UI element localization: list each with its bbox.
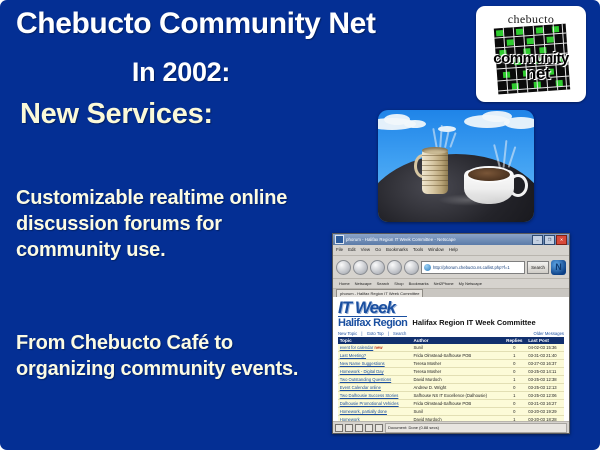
cell-author: Frida Olmstead-Safhouse POB <box>412 352 503 360</box>
personal-link-bookmarks[interactable]: Bookmarks <box>409 279 429 288</box>
composer-icon[interactable] <box>355 424 363 432</box>
menu-window[interactable]: Window <box>428 245 444 255</box>
cell-topic[interactable]: Event Calendar online <box>338 384 412 392</box>
table-row[interactable]: Last Meeting?Frida Olmstead-Safhouse POB… <box>338 352 565 360</box>
cell-author: David Murdoch <box>412 376 503 384</box>
forum-top-links: New Topic | Goto Top | Search Older Mess… <box>333 329 569 337</box>
cell-replies: 0 <box>502 360 526 368</box>
cell-last-post: 03-25-03 12:06 <box>526 392 564 400</box>
new-badge: new <box>373 345 382 350</box>
netscape-window-icon <box>335 235 344 244</box>
cell-author: Sunil <box>412 408 503 416</box>
table-row[interactable]: Two Outstanding QuestionsDavid Murdoch10… <box>338 376 565 384</box>
status-message: Document: Done (0.88 secs) <box>385 423 567 433</box>
coffee-liquid <box>468 168 510 181</box>
browser-viewport: IT Week Halifax Region Halifax Region IT… <box>333 297 569 422</box>
cell-replies: 1 <box>502 376 526 384</box>
personal-link-home[interactable]: Home <box>339 279 350 288</box>
table-row[interactable]: event for calendar newSunil004-02-03 15:… <box>338 344 565 352</box>
menu-view[interactable]: View <box>361 245 370 255</box>
search-button[interactable]: Search <box>527 261 549 274</box>
thread-link[interactable]: Two Outstanding Questions <box>340 377 391 382</box>
cell-author: Teresa Mosher <box>412 360 503 368</box>
forum-thread-table: Topic Author Replies Last Post event for… <box>338 337 565 422</box>
cell-replies: 1 <box>502 352 526 360</box>
thread-link[interactable]: Homework, partially done <box>340 409 387 414</box>
link-goto-top[interactable]: Goto Top <box>367 331 384 336</box>
separator-2: | <box>388 331 389 336</box>
cell-last-post: 04-02-03 15:36 <box>526 344 564 352</box>
menu-tools[interactable]: Tools <box>413 245 423 255</box>
cell-replies: 0 <box>502 408 526 416</box>
stop-button[interactable] <box>387 260 402 275</box>
cell-last-post: 03-21-03 16:27 <box>526 400 564 408</box>
menu-help[interactable]: Help <box>449 245 458 255</box>
thread-link[interactable]: event for calendar <box>340 345 374 350</box>
personal-link-netscape[interactable]: Netscape <box>355 279 372 288</box>
tall-ribbed-mug <box>422 150 448 194</box>
coffee-photo <box>378 110 534 222</box>
cell-last-post: 03-25-03 12:13 <box>526 384 564 392</box>
cell-author: Sunil <box>412 344 503 352</box>
cell-replies: 0 <box>502 344 526 352</box>
menu-edit[interactable]: Edit <box>348 245 356 255</box>
menu-file[interactable]: File <box>336 245 343 255</box>
cell-author: Frida Olmstead-Safhouse POB <box>412 400 503 408</box>
personal-link-shop[interactable]: Shop <box>394 279 403 288</box>
browser-navigation-toolbar[interactable]: http://phorum.chebucto.ns.ca/list.php?f=… <box>333 256 569 279</box>
cell-last-post: 03-25-03 14:11 <box>526 368 564 376</box>
address-book-icon[interactable] <box>365 424 373 432</box>
online-status-icon[interactable] <box>335 424 343 432</box>
forward-button[interactable] <box>353 260 368 275</box>
link-older-messages-top[interactable]: Older Messages <box>534 331 565 336</box>
cell-last-post: 03-20-03 19:29 <box>526 408 564 416</box>
separator-1: | <box>361 331 362 336</box>
table-header-row: Topic Author Replies Last Post <box>338 337 565 344</box>
table-row[interactable]: Homework - Digital DayTeresa Mosher003-2… <box>338 368 565 376</box>
cell-replies: 0 <box>502 368 526 376</box>
thread-link[interactable]: Homework - Digital Day <box>340 369 384 374</box>
menu-go[interactable]: Go <box>375 245 381 255</box>
table-row[interactable]: Dalhousie Promotional VehiclesFrida Olms… <box>338 400 565 408</box>
window-controls[interactable]: – ❐ ✕ <box>532 235 567 245</box>
column-replies[interactable]: Replies <box>502 337 526 344</box>
close-button[interactable]: ✕ <box>556 235 567 245</box>
maximize-button[interactable]: ❐ <box>544 235 555 245</box>
browser-window-title: phorum - Halifax Region IT Week Committe… <box>346 234 532 245</box>
minimize-button[interactable]: – <box>532 235 543 245</box>
cell-last-post: 03-27-03 16:37 <box>526 360 564 368</box>
address-bar-value: http://phorum.chebucto.ns.ca/list.php?f=… <box>433 265 510 270</box>
table-row[interactable]: New Name SuggestionsTeresa Mosher003-27-… <box>338 360 565 368</box>
address-bar[interactable]: http://phorum.chebucto.ns.ca/list.php?f=… <box>421 261 525 274</box>
personal-link-search[interactable]: Search <box>377 279 390 288</box>
reload-button[interactable] <box>370 260 385 275</box>
table-row[interactable]: Event Calendar onlineAndrew D. Wright003… <box>338 384 565 392</box>
logo-word-chebucto: chebucto <box>476 12 586 27</box>
cell-topic[interactable]: event for calendar new <box>338 344 412 352</box>
thread-link[interactable]: Two Dalhousie Success Stories <box>340 393 399 398</box>
page-title: Chebucto Community Net <box>16 8 446 40</box>
column-author[interactable]: Author <box>412 337 503 344</box>
cell-topic[interactable]: Homework - Digital Day <box>338 368 412 376</box>
globe-icon <box>424 264 431 271</box>
page-header: IT Week Halifax Region Halifax Region IT… <box>333 297 569 329</box>
cell-author: Andrew D. Wright <box>412 384 503 392</box>
link-search-top[interactable]: Search <box>393 331 406 336</box>
presentation-slide: Chebucto Community Net In 2002: New Serv… <box>0 0 600 450</box>
table-row[interactable]: Homework, partially doneSunil003-20-03 1… <box>338 408 565 416</box>
personal-link-net2phone[interactable]: Net2Phone <box>434 279 454 288</box>
thread-link[interactable]: New Name Suggestions <box>340 361 385 366</box>
home-button[interactable] <box>404 260 419 275</box>
cell-topic[interactable]: Dalhousie Promotional Vehicles <box>338 400 412 408</box>
cell-topic[interactable]: New Name Suggestions <box>338 360 412 368</box>
chebucto-community-net-logo: chebucto <box>476 6 586 102</box>
cell-topic[interactable]: Two Outstanding Questions <box>338 376 412 384</box>
column-topic[interactable]: Topic <box>338 337 412 344</box>
section-heading: New Services: <box>20 98 350 131</box>
browser-window-screenshot: phorum - Halifax Region IT Week Committe… <box>332 233 570 434</box>
mug-rim <box>422 147 448 154</box>
personal-toolbar[interactable]: Home Netscape Search Shop Bookmarks Net2… <box>333 279 569 289</box>
cell-author: Safhouse NS IT Excellence (Dalhousie) <box>412 392 503 400</box>
personal-link-my-netscape[interactable]: My Netscape <box>459 279 482 288</box>
column-last-post[interactable]: Last Post <box>526 337 564 344</box>
cell-topic[interactable]: Two Dalhousie Success Stories <box>338 392 412 400</box>
it-week-logo: IT Week Halifax Region <box>338 300 407 329</box>
back-button[interactable] <box>336 260 351 275</box>
cell-last-post: 03-25-03 12:38 <box>526 376 564 384</box>
it-week-logo-line1: IT Week <box>338 300 407 316</box>
netscape-logo-icon[interactable]: N <box>551 260 566 275</box>
link-new-topic-top[interactable]: New Topic <box>338 331 357 336</box>
cell-replies: 0 <box>502 400 526 408</box>
browser-title-bar: phorum - Halifax Region IT Week Committe… <box>333 234 569 245</box>
bullet-paragraph-2: From Chebucto Café to organizing communi… <box>16 330 326 382</box>
table-reflection <box>438 194 498 206</box>
it-week-logo-line2: Halifax Region <box>338 316 407 329</box>
slide-subtitle: In 2002: <box>16 57 346 88</box>
thread-link[interactable]: Last Meeting? <box>340 353 366 358</box>
instant-messenger-icon[interactable] <box>375 424 383 432</box>
cell-topic[interactable]: Last Meeting? <box>338 352 412 360</box>
cell-last-post: 03-31-03 21:40 <box>526 352 564 360</box>
bullet-paragraph-1: Customizable realtime online discussion … <box>16 185 326 263</box>
mail-icon[interactable] <box>345 424 353 432</box>
menu-bookmarks[interactable]: Bookmarks <box>386 245 408 255</box>
page-heading: Halifax Region IT Week Committee <box>412 318 535 329</box>
cell-topic[interactable]: Homework, partially done <box>338 408 412 416</box>
logo-checker-grid-icon <box>494 24 570 95</box>
thread-link[interactable]: Dalhousie Promotional Vehicles <box>340 401 399 406</box>
browser-menu-bar[interactable]: File Edit View Go Bookmarks Tools Window… <box>333 245 569 256</box>
cell-replies: 1 <box>502 392 526 400</box>
browser-status-bar: Document: Done (0.88 secs) <box>333 421 569 433</box>
cell-author: Teresa Mosher <box>412 368 503 376</box>
table-row[interactable]: Two Dalhousie Success StoriesSafhouse NS… <box>338 392 565 400</box>
cell-replies: 0 <box>502 384 526 392</box>
thread-link[interactable]: Event Calendar online <box>340 385 381 390</box>
